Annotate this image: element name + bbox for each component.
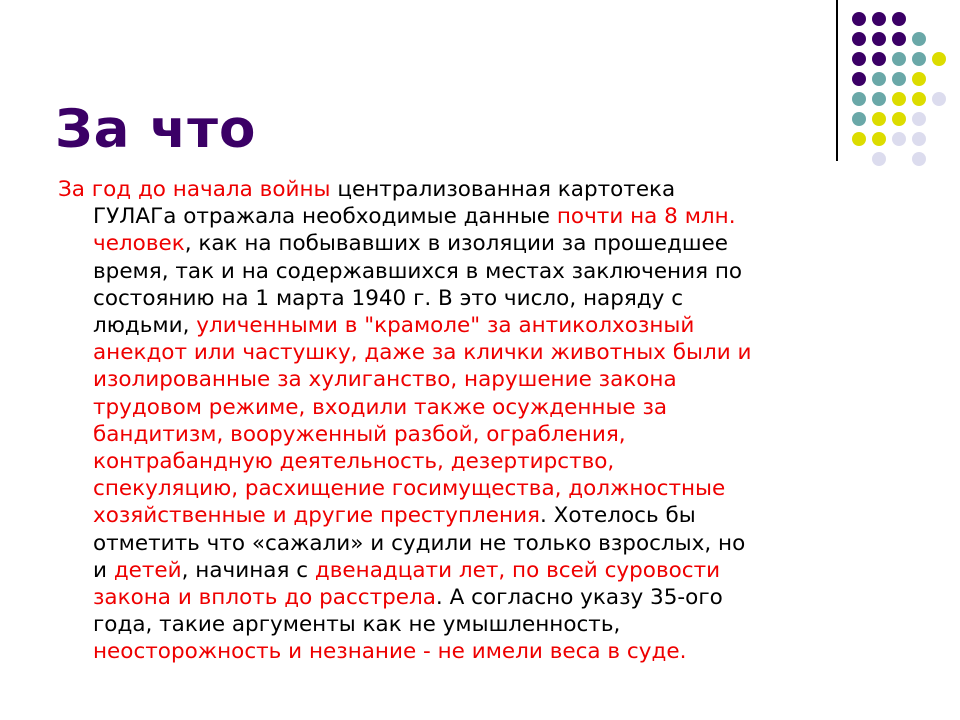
grid-dot-yellow xyxy=(912,92,926,106)
grid-dot-lavender xyxy=(912,132,926,146)
grid-dot-teal xyxy=(872,72,886,86)
slide-canvas: За что За год до начала войны централизо… xyxy=(0,0,960,720)
grid-dot-teal xyxy=(892,72,906,86)
grid-dot-purple xyxy=(852,72,866,86)
grid-dot-yellow xyxy=(892,92,906,106)
grid-dot-teal xyxy=(852,92,866,106)
grid-dot-purple xyxy=(892,12,906,26)
grid-dot-lavender xyxy=(912,152,926,166)
grid-dot-teal xyxy=(872,92,886,106)
grid-dot-lavender xyxy=(892,132,906,146)
grid-dot-purple xyxy=(872,32,886,46)
grid-dot-purple xyxy=(852,32,866,46)
grid-dot-yellow xyxy=(872,132,886,146)
decorative-dot-grid xyxy=(836,0,960,176)
page-title: За что xyxy=(55,102,815,158)
grid-dot-teal xyxy=(912,32,926,46)
grid-dot-purple xyxy=(872,52,886,66)
body-paragraph: За год до начала войны централизованная … xyxy=(58,176,758,666)
grid-dot-purple xyxy=(872,12,886,26)
grid-dot-yellow xyxy=(932,52,946,66)
body-text-block: За год до начала войны централизованная … xyxy=(58,176,758,666)
body-run-7: , начиная с xyxy=(182,558,315,583)
grid-dot-lavender xyxy=(912,112,926,126)
grid-dot-yellow xyxy=(872,112,886,126)
body-run-4: уличенными в "крамоле" за антиколхозный … xyxy=(93,313,752,528)
grid-dot-teal xyxy=(852,112,866,126)
grid-dot-teal xyxy=(892,52,906,66)
grid-dot-purple xyxy=(892,32,906,46)
grid-dot-lavender xyxy=(932,92,946,106)
grid-dot-purple xyxy=(852,52,866,66)
grid-dot-teal xyxy=(912,52,926,66)
grid-dot-yellow xyxy=(912,72,926,86)
grid-dot-lavender xyxy=(872,152,886,166)
grid-dot-yellow xyxy=(852,132,866,146)
body-run-10: неосторожность и незнание - не имели вес… xyxy=(93,639,686,664)
body-run-6: детей xyxy=(114,558,182,583)
grid-dot-yellow xyxy=(892,112,906,126)
grid-dot-purple xyxy=(852,12,866,26)
body-run-0: За год до начала войны xyxy=(58,177,331,202)
vertical-rule xyxy=(836,0,838,161)
